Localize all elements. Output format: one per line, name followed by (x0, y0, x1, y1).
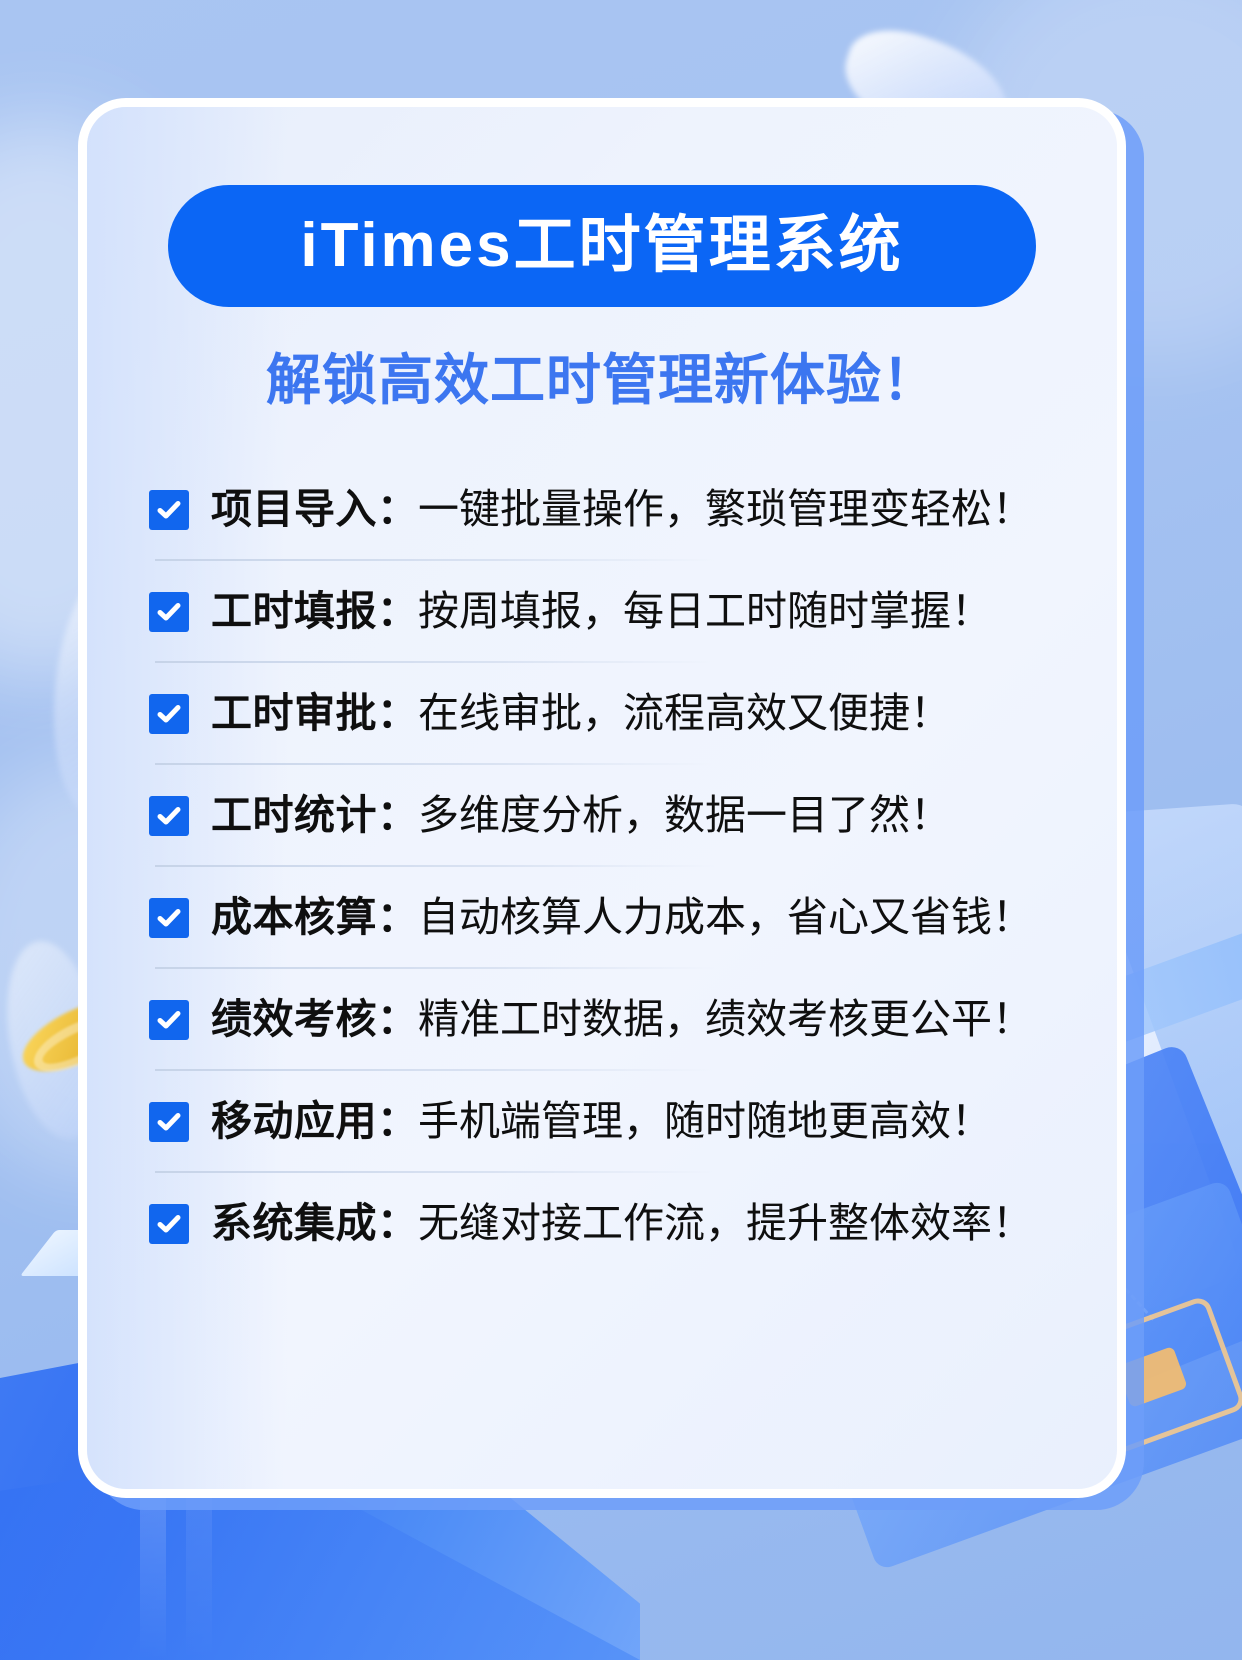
feature-divider (155, 1171, 715, 1173)
feature-colon: ： (377, 791, 418, 839)
feature-description: 无缝对接工作流，提升整体效率！ (418, 1199, 1033, 1247)
checkbox-checked-icon[interactable] (149, 592, 189, 632)
feature-colon: ： (377, 689, 418, 737)
page-subtitle: 解锁高效工时管理新体验！ (143, 353, 1061, 408)
checkbox-checked-icon[interactable] (149, 490, 189, 530)
feature-item: 工时统计：多维度分析，数据一目了然！ (149, 776, 1055, 854)
feature-description: 多维度分析，数据一目了然！ (418, 791, 951, 839)
feature-item: 系统集成：无缝对接工作流，提升整体效率！ (149, 1184, 1055, 1262)
checkbox-checked-icon[interactable] (149, 1000, 189, 1040)
feature-label: 项目导入 (211, 485, 377, 533)
feature-description: 在线审批，流程高效又便捷！ (418, 689, 951, 737)
checkbox-checked-icon[interactable] (149, 694, 189, 734)
feature-divider (155, 559, 715, 561)
feature-colon: ： (377, 1199, 418, 1247)
feature-text: 工时统计：多维度分析，数据一目了然！ (211, 795, 951, 836)
poster-canvas: iTimes工时管理系统 解锁高效工时管理新体验！ 项目导入：一键批量操作，繁琐… (0, 0, 1242, 1660)
feature-divider (155, 763, 715, 765)
feature-divider (155, 661, 715, 663)
feature-colon: ： (377, 587, 418, 635)
feature-item: 绩效考核：精准工时数据，绩效考核更公平！ (149, 980, 1055, 1058)
feature-label: 工时审批 (211, 689, 377, 737)
feature-text: 项目导入：一键批量操作，繁琐管理变轻松！ (211, 489, 1033, 530)
feature-divider (155, 865, 715, 867)
feature-text: 移动应用：手机端管理，随时随地更高效！ (211, 1101, 992, 1142)
feature-item: 项目导入：一键批量操作，繁琐管理变轻松！ (149, 470, 1055, 548)
checkbox-checked-icon[interactable] (149, 1204, 189, 1244)
feature-description: 一键批量操作，繁琐管理变轻松！ (418, 485, 1033, 533)
feature-list: 项目导入：一键批量操作，繁琐管理变轻松！工时填报：按周填报，每日工时随时掌握！工… (143, 470, 1061, 1262)
feature-item: 移动应用：手机端管理，随时随地更高效！ (149, 1082, 1055, 1160)
feature-colon: ： (377, 485, 418, 533)
feature-label: 工时统计 (211, 791, 377, 839)
feature-divider (155, 1069, 715, 1071)
feature-text: 系统集成：无缝对接工作流，提升整体效率！ (211, 1203, 1033, 1244)
title-pill: iTimes工时管理系统 (168, 185, 1036, 307)
feature-description: 手机端管理，随时随地更高效！ (418, 1097, 992, 1145)
feature-label: 工时填报 (211, 587, 377, 635)
feature-divider (155, 967, 715, 969)
feature-card: iTimes工时管理系统 解锁高效工时管理新体验！ 项目导入：一键批量操作，繁琐… (78, 98, 1126, 1498)
feature-item: 成本核算：自动核算人力成本，省心又省钱！ (149, 878, 1055, 956)
feature-colon: ： (377, 995, 418, 1043)
checkbox-checked-icon[interactable] (149, 796, 189, 836)
page-title: iTimes工时管理系统 (300, 215, 903, 277)
checkbox-checked-icon[interactable] (149, 1102, 189, 1142)
feature-label: 系统集成 (211, 1199, 377, 1247)
feature-item: 工时审批：在线审批，流程高效又便捷！ (149, 674, 1055, 752)
feature-description: 按周填报，每日工时随时掌握！ (418, 587, 992, 635)
feature-text: 成本核算：自动核算人力成本，省心又省钱！ (211, 897, 1033, 938)
feature-text: 绩效考核：精准工时数据，绩效考核更公平！ (211, 999, 1033, 1040)
feature-label: 移动应用 (211, 1097, 377, 1145)
feature-text: 工时填报：按周填报，每日工时随时掌握！ (211, 591, 992, 632)
feature-text: 工时审批：在线审批，流程高效又便捷！ (211, 693, 951, 734)
checkbox-checked-icon[interactable] (149, 898, 189, 938)
feature-colon: ： (377, 893, 418, 941)
feature-description: 精准工时数据，绩效考核更公平！ (418, 995, 1033, 1043)
feature-colon: ： (377, 1097, 418, 1145)
feature-label: 绩效考核 (211, 995, 377, 1043)
feature-item: 工时填报：按周填报，每日工时随时掌握！ (149, 572, 1055, 650)
feature-label: 成本核算 (211, 893, 377, 941)
feature-description: 自动核算人力成本，省心又省钱！ (418, 893, 1033, 941)
